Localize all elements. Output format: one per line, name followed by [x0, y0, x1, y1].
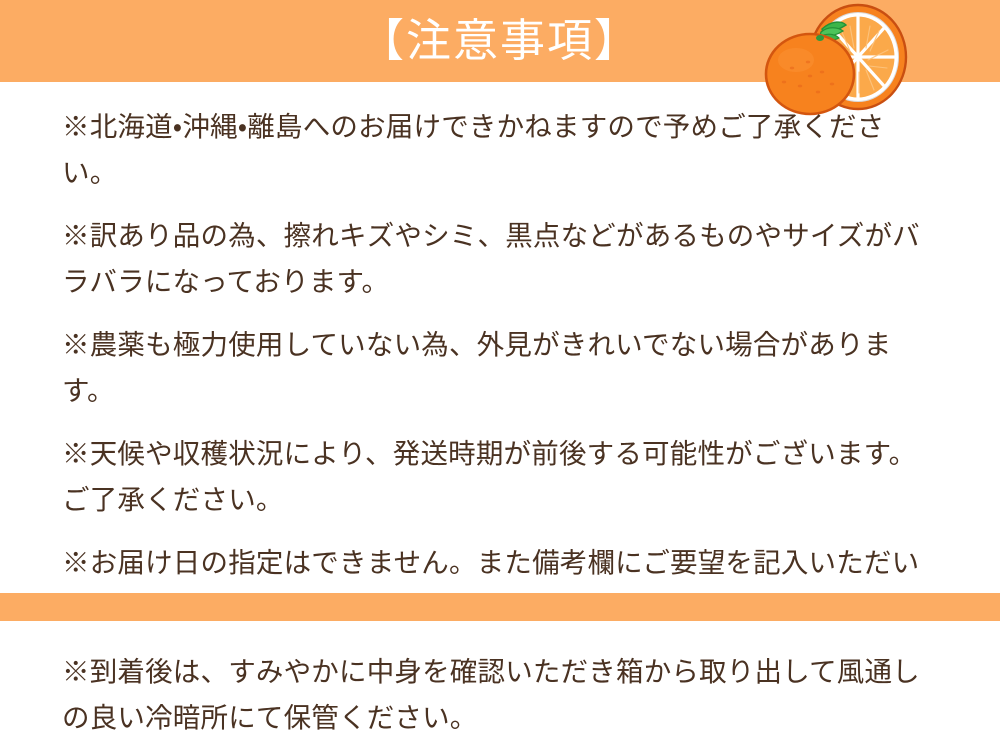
note-item: ※天候や収穫状況により、発送時期が前後する可能性がございます。ご了承ください。 [62, 431, 938, 523]
notice-banner: 【注意事項】 [0, 0, 1000, 621]
footer-band [0, 593, 1000, 621]
note-item: ※到着後は、すみやかに中身を確認いただき箱から取り出して風通しの良い冷暗所にて保… [62, 649, 938, 741]
notes-list: ※北海道・沖縄・離島へのお届けできかねますので予めご了承ください。 ※訳あり品の… [0, 82, 1000, 593]
note-item: ※北海道・沖縄・離島へのお届けできかねますので予めご了承ください。 [62, 104, 938, 196]
note-item: ※農薬も極力使用していない為、外見がきれいでない場合があります。 [62, 322, 938, 414]
page-title: 【注意事項】 [0, 0, 1000, 82]
note-item: ※訳あり品の為、擦れキズやシミ、黒点などがあるものやサイズがバラバラになっており… [62, 213, 938, 305]
